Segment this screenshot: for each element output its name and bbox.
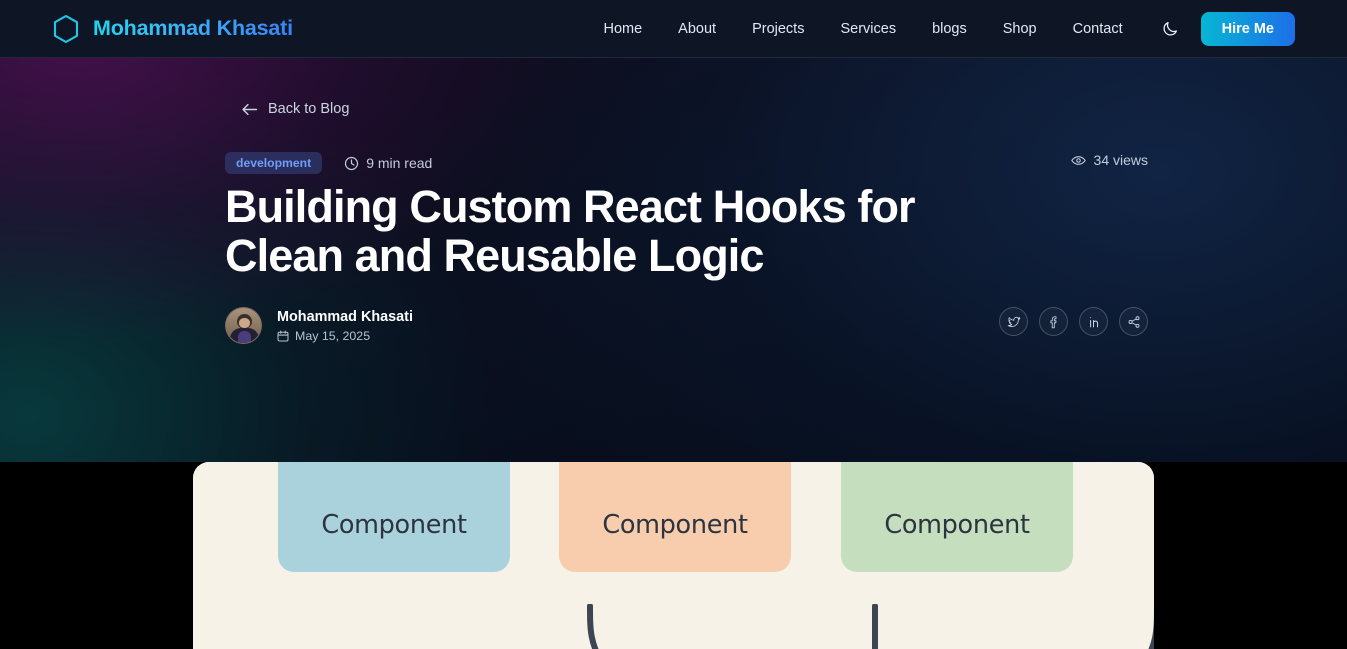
read-time-label: 9 min read — [366, 155, 432, 171]
connector-line-3 — [1133, 604, 1154, 649]
brand-logo-link[interactable]: Mohammad Khasati — [52, 14, 293, 44]
share-generic-button[interactable] — [1119, 307, 1148, 336]
component-card-3-label: Component — [841, 510, 1073, 540]
nav-item-about[interactable]: About — [660, 15, 734, 43]
connector-line-2 — [855, 604, 895, 649]
hexagon-icon — [52, 14, 80, 44]
eye-icon — [1071, 153, 1086, 168]
connector-line-1 — [574, 604, 614, 649]
main-nav: Home About Projects Services blogs Shop … — [585, 12, 1347, 46]
hero-content: Back to Blog development 9 min read — [225, 58, 1125, 462]
component-card-3: Component — [841, 462, 1073, 572]
share-twitter-button[interactable] — [999, 307, 1028, 336]
nav-item-projects[interactable]: Projects — [734, 15, 822, 43]
author-name: Mohammad Khasati — [277, 308, 413, 326]
component-card-1: Component — [278, 462, 510, 572]
nav-item-services[interactable]: Services — [822, 15, 914, 43]
publish-date-label: May 15, 2025 — [295, 329, 370, 343]
nav-item-shop[interactable]: Shop — [985, 15, 1055, 43]
blog-post-page: Mohammad Khasati Home About Projects Ser… — [0, 0, 1347, 649]
author-block: Mohammad Khasati May 15, 2025 — [225, 307, 1125, 344]
nav-item-home[interactable]: Home — [585, 15, 660, 43]
moon-icon — [1161, 20, 1179, 38]
avatar — [225, 307, 262, 344]
post-meta-row: development 9 min read 34 views — [225, 152, 1125, 174]
hero-section: Back to Blog development 9 min read — [0, 58, 1347, 462]
page-title: Building Custom React Hooks for Clean an… — [225, 182, 1035, 280]
read-time: 9 min read — [344, 155, 432, 171]
facebook-icon — [1047, 315, 1061, 329]
publish-date: May 15, 2025 — [277, 329, 413, 343]
component-card-2: Component — [559, 462, 791, 572]
calendar-icon — [277, 330, 289, 342]
share-facebook-button[interactable] — [1039, 307, 1068, 336]
hire-me-button[interactable]: Hire Me — [1201, 12, 1295, 46]
site-header: Mohammad Khasati Home About Projects Ser… — [0, 0, 1347, 58]
nav-item-contact[interactable]: Contact — [1055, 15, 1141, 43]
clock-icon — [344, 156, 359, 171]
view-count: 34 views — [1071, 152, 1148, 168]
nav-item-blogs[interactable]: blogs — [914, 15, 985, 43]
arrow-left-icon — [241, 102, 258, 117]
share-icon — [1127, 315, 1141, 329]
share-buttons — [999, 307, 1148, 336]
view-count-label: 34 views — [1094, 152, 1148, 168]
theme-toggle-button[interactable] — [1153, 12, 1187, 46]
category-tag-development[interactable]: development — [225, 152, 322, 174]
cover-image: Component Component Component — [193, 462, 1154, 649]
share-linkedin-button[interactable] — [1079, 307, 1108, 336]
twitter-icon — [1007, 315, 1021, 329]
linkedin-icon — [1087, 315, 1101, 329]
component-card-1-label: Component — [278, 510, 510, 540]
cover-illustration: Component Component Component — [193, 462, 1154, 649]
back-to-blog-label: Back to Blog — [268, 101, 349, 117]
component-card-2-label: Component — [559, 510, 791, 540]
brand-name: Mohammad Khasati — [93, 16, 293, 41]
back-to-blog-link[interactable]: Back to Blog — [241, 101, 349, 117]
